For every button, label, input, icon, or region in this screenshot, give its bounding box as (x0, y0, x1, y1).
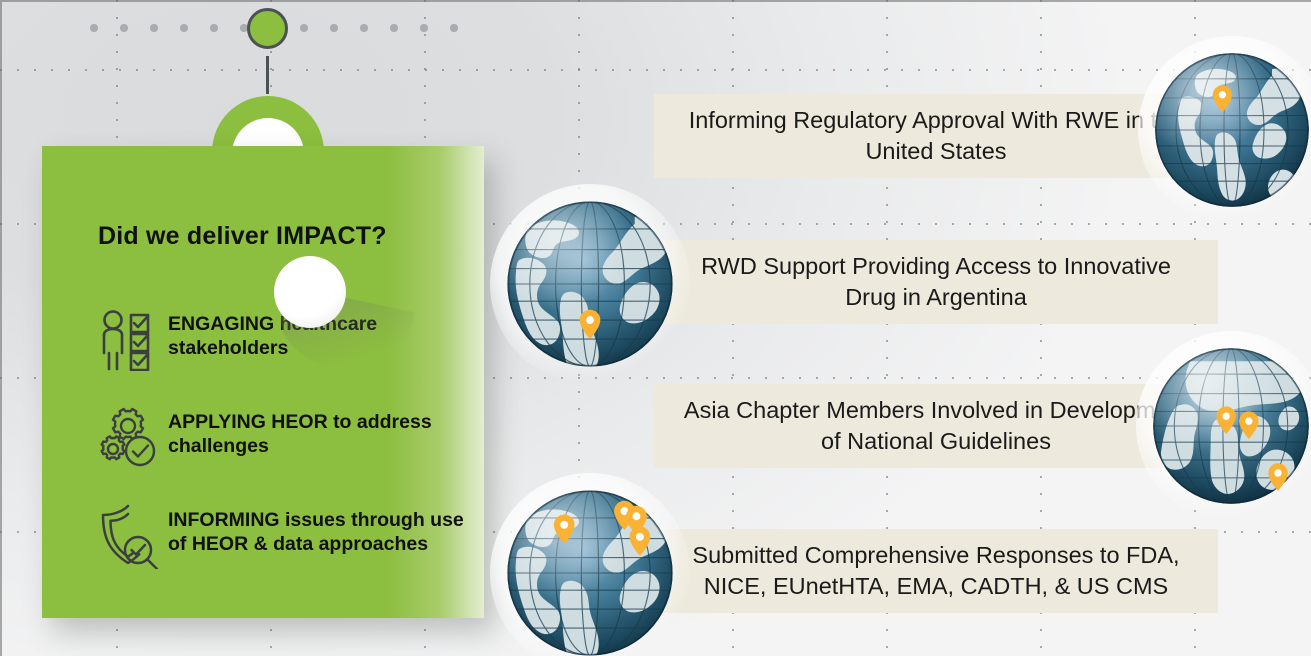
achievement-banner[interactable]: Asia Chapter Members Involved in Develop… (654, 384, 1218, 468)
globe-americas-argentina-pin (504, 198, 676, 370)
timeline-active-node[interactable] (247, 8, 288, 49)
list-item-label: INFORMING issues through use of HEOR & d… (168, 500, 474, 556)
panel-hole-circle (274, 256, 346, 328)
list-item-label: APPLYING HEOR to address challenges (168, 402, 474, 458)
page-title: Did we deliver IMPACT? (98, 222, 387, 251)
impact-bullet-list: ENGAGING healthcare stakeholders APPLYIN… (94, 304, 474, 598)
impact-panel: Did we deliver IMPACT? (42, 146, 484, 618)
globe-atlantic-agency-pins (504, 487, 676, 656)
achievement-banner[interactable]: Informing Regulatory Approval With RWE i… (654, 94, 1218, 178)
achievement-banner[interactable]: Submitted Comprehensive Responses to FDA… (654, 529, 1218, 613)
list-item: INFORMING issues through use of HEOR & d… (94, 500, 474, 572)
slide-canvas: Did we deliver IMPACT? (0, 0, 1311, 656)
grid-guide-row (0, 69, 1311, 71)
panel-arch-top (212, 96, 324, 152)
gears-check-icon (94, 402, 168, 474)
globe-americas-us-pin (1152, 50, 1311, 210)
timeline-connector-line (266, 56, 269, 94)
list-item: APPLYING HEOR to address challenges (94, 402, 474, 474)
person-checklist-icon (94, 304, 168, 376)
shield-magnifier-check-icon (94, 500, 168, 572)
globe-asia-pacific-pins (1150, 345, 1311, 507)
achievement-banner[interactable]: RWD Support Providing Access to Innovati… (654, 240, 1218, 324)
